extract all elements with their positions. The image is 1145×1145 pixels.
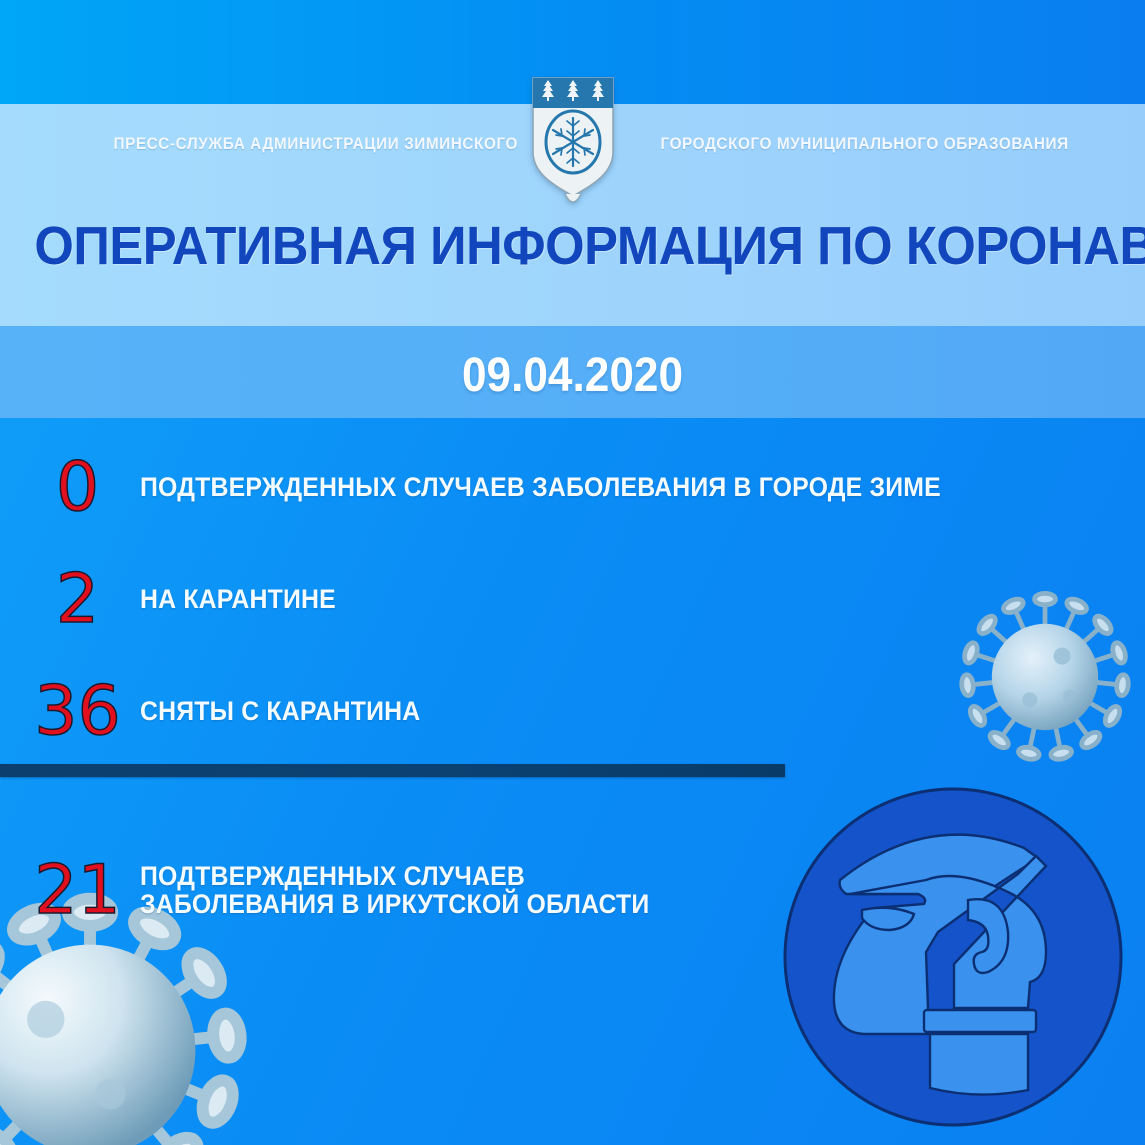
stat-label: СНЯТЫ С КАРАНТИНА [140,698,420,726]
report-date: 09.04.2020 [46,348,1099,403]
header-text-right: ГОРОДСКОГО МУНИЦИПАЛЬНОГО ОБРАЗОВАНИЯ [647,135,1032,154]
coat-of-arms-icon [529,76,617,204]
stat-value: 36 [0,678,140,746]
region-stat-label-line2: ЗАБОЛЕВАНИЯ В ИРКУТСКОЙ ОБЛАСТИ [140,891,649,919]
page-title: ОПЕРАТИВНАЯ ИНФОРМАЦИЯ ПО КОРОНАВИРУСУ [34,215,1110,277]
stat-value: 2 [0,566,140,634]
stat-label: ПОДТВЕРЖДЕННЫХ СЛУЧАЕВ ЗАБОЛЕВАНИЯ В ГОР… [140,474,941,502]
section-divider [0,764,785,777]
region-stat-value: 21 [0,857,140,925]
stat-row: 2 НА КАРАНТИНЕ [0,544,1145,656]
region-stat-label-line1: ПОДТВЕРЖДЕННЫХ СЛУЧАЕВ [140,861,525,891]
region-stat-row: 21 ПОДТВЕРЖДЕННЫХ СЛУЧАЕВ ЗАБОЛЕВАНИЯ В … [0,836,1145,946]
stat-row: 36 СНЯТЫ С КАРАНТИНА [0,656,1145,768]
statistics-list: 0 ПОДТВЕРЖДЕННЫХ СЛУЧАЕВ ЗАБОЛЕВАНИЯ В Г… [0,432,1145,946]
header-text-left: ПРЕСС-СЛУЖБА АДМИНИСТРАЦИИ ЗИМИНСКОГО [113,135,498,154]
stat-value: 0 [0,454,140,522]
coronavirus-info-poster: ПРЕСС-СЛУЖБА АДМИНИСТРАЦИИ ЗИМИНСКОГО ГО… [0,0,1145,1145]
region-stat-label: ПОДТВЕРЖДЕННЫХ СЛУЧАЕВ ЗАБОЛЕВАНИЯ В ИРК… [140,863,649,918]
stat-row: 0 ПОДТВЕРЖДЕННЫХ СЛУЧАЕВ ЗАБОЛЕВАНИЯ В Г… [0,432,1145,544]
stat-label: НА КАРАНТИНЕ [140,586,336,614]
